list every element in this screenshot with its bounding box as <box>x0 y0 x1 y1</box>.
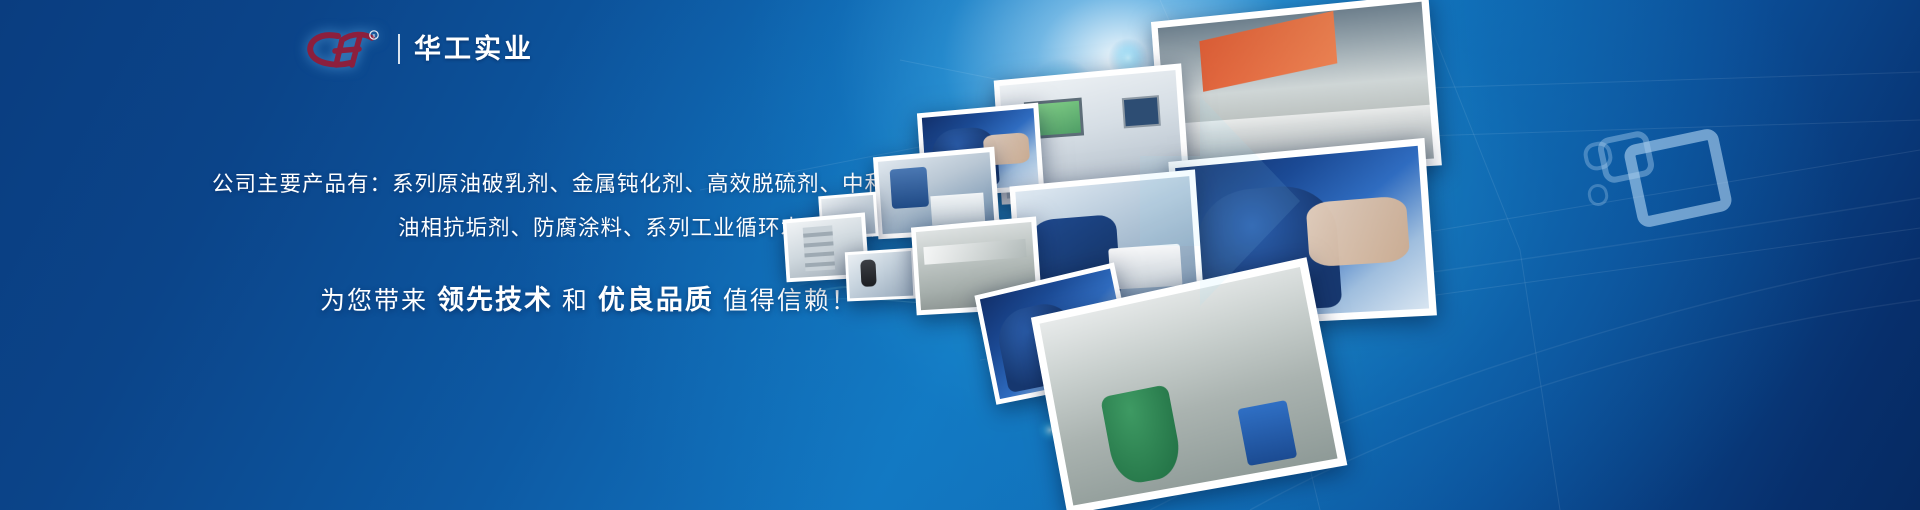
site-logo[interactable]: R 华工实业 <box>302 26 534 72</box>
ch-monogram-icon: R <box>302 27 384 71</box>
collage-photo-tiny-3 <box>845 248 917 302</box>
tagline-part-2: 和 <box>562 287 589 315</box>
tagline-emphasis-1: 领先技术 <box>437 285 553 315</box>
logo-company-name: 华工实业 <box>414 36 534 63</box>
hero-banner: R 华工实业 公司主要产品有：系列原油破乳剂、金属钝化剂、高效脱硫剂、中和缓蚀剂… <box>0 0 1920 510</box>
tagline: 为您带来 领先技术 和 优良品质 值得信赖！ <box>320 278 858 317</box>
photo-collage <box>880 0 1920 510</box>
logo-divider <box>398 34 400 64</box>
tagline-emphasis-2: 优良品质 <box>598 285 714 315</box>
tagline-part-1: 为您带来 <box>320 287 428 315</box>
tagline-part-3: 值得信赖！ <box>723 287 858 315</box>
photo-tiny-3-image <box>848 251 914 298</box>
